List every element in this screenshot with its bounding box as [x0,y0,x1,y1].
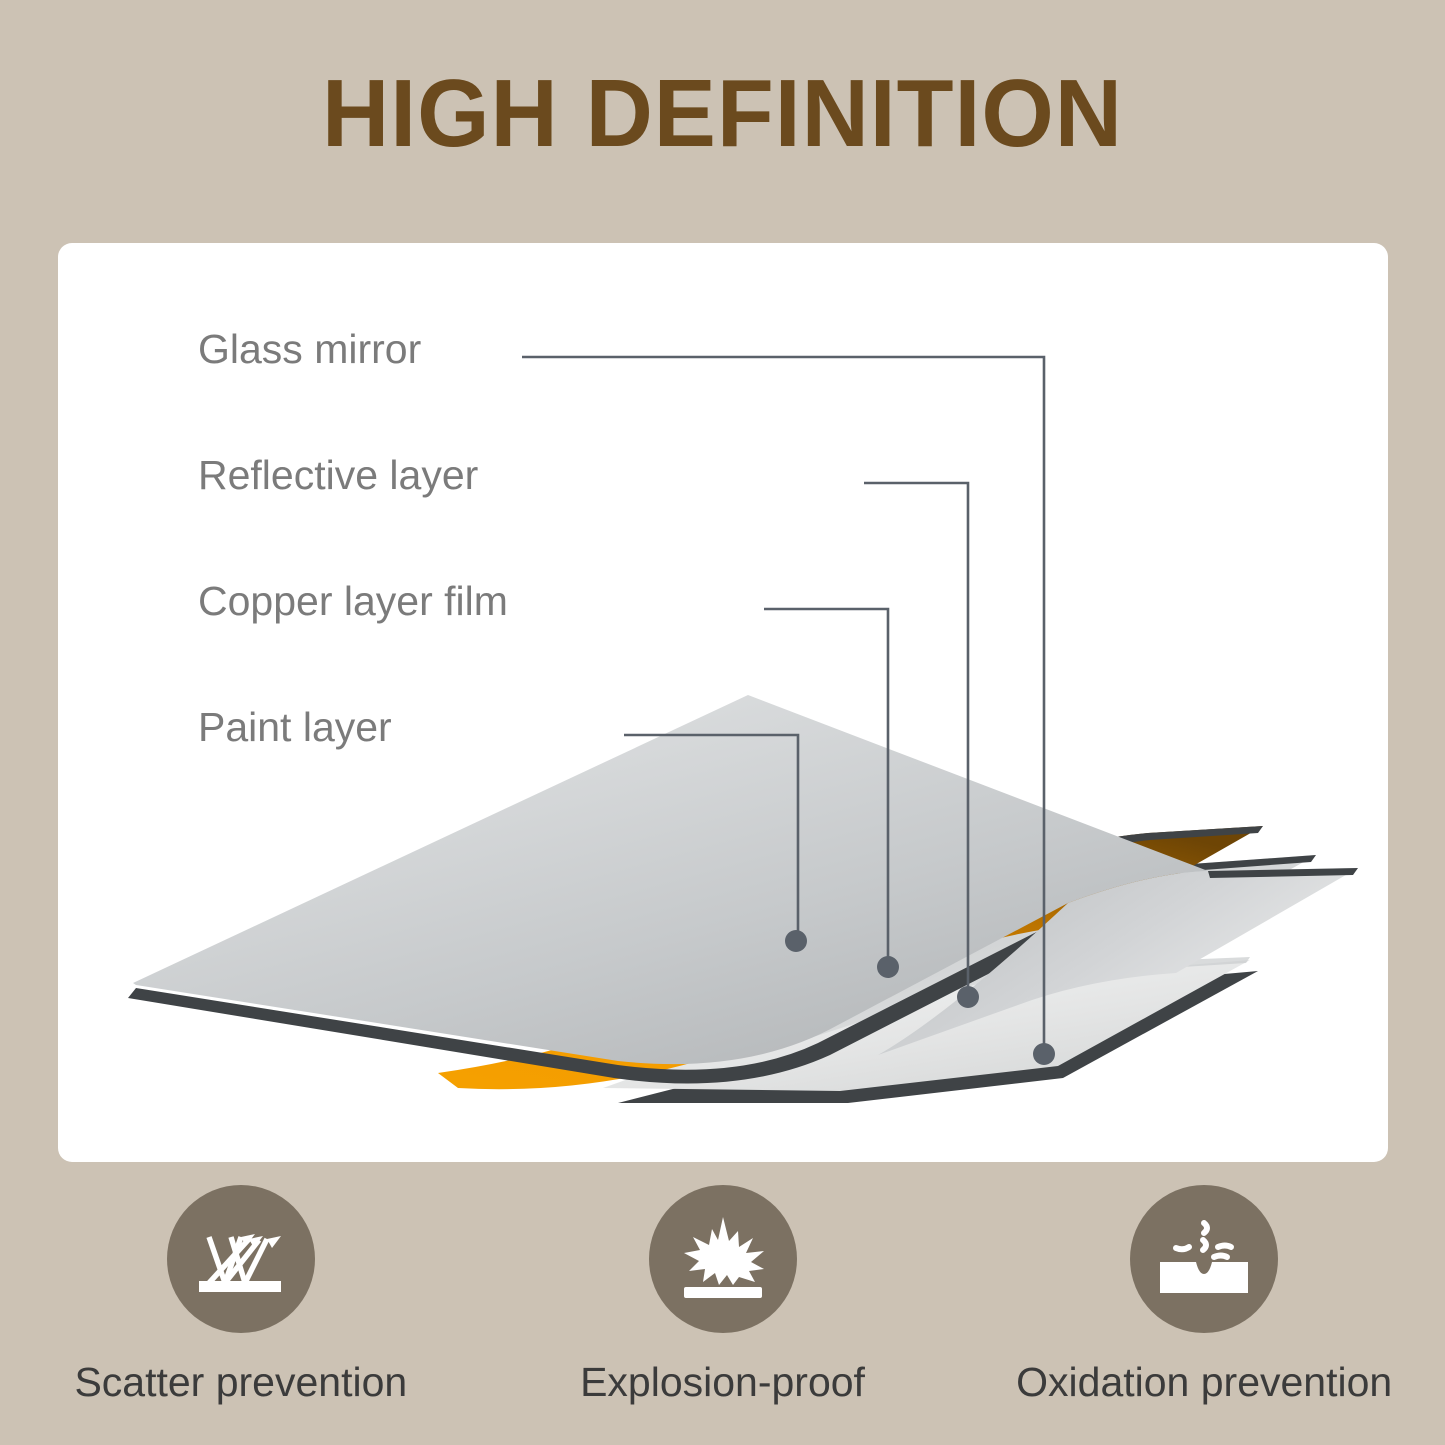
layer-diagram [58,243,1388,1162]
layer-label-glass-mirror: Glass mirror [198,326,421,373]
feature-label-explosion-proof: Explosion-proof [580,1359,865,1406]
feature-icon-circle [167,1185,315,1333]
feature-oxidation-prevention: Oxidation prevention [963,1185,1445,1435]
layer-label-reflective-layer: Reflective layer [198,452,478,499]
callout-dot-paint-layer [1033,1043,1055,1065]
light-rays-reflecting-icon [189,1207,293,1311]
oxidation-surface-icon [1152,1207,1256,1311]
feature-label-oxidation-prevention: Oxidation prevention [1016,1359,1392,1406]
feature-list: Scatter prevention Explosion-proof [0,1185,1445,1435]
explosion-burst-icon [671,1207,775,1311]
feature-icon-circle [649,1185,797,1333]
diagram-card: Glass mirror Reflective layer Copper lay… [58,243,1388,1162]
feature-icon-circle [1130,1185,1278,1333]
diagram-layer-glass-mirror [128,695,1358,1083]
feature-explosion-proof: Explosion-proof [482,1185,964,1435]
page-title: HIGH DEFINITION [22,64,1424,165]
layer-label-paint-layer: Paint layer [198,704,392,751]
callout-dot-reflective-layer [877,956,899,978]
feature-label-scatter-prevention: Scatter prevention [74,1359,407,1406]
layer-label-copper-layer-film: Copper layer film [198,578,508,625]
product-feature-infographic: HIGH DEFINITION [0,0,1445,1445]
feature-scatter-prevention: Scatter prevention [0,1185,482,1435]
callout-dot-glass-mirror [785,930,807,952]
callout-dot-copper-layer-film [957,986,979,1008]
